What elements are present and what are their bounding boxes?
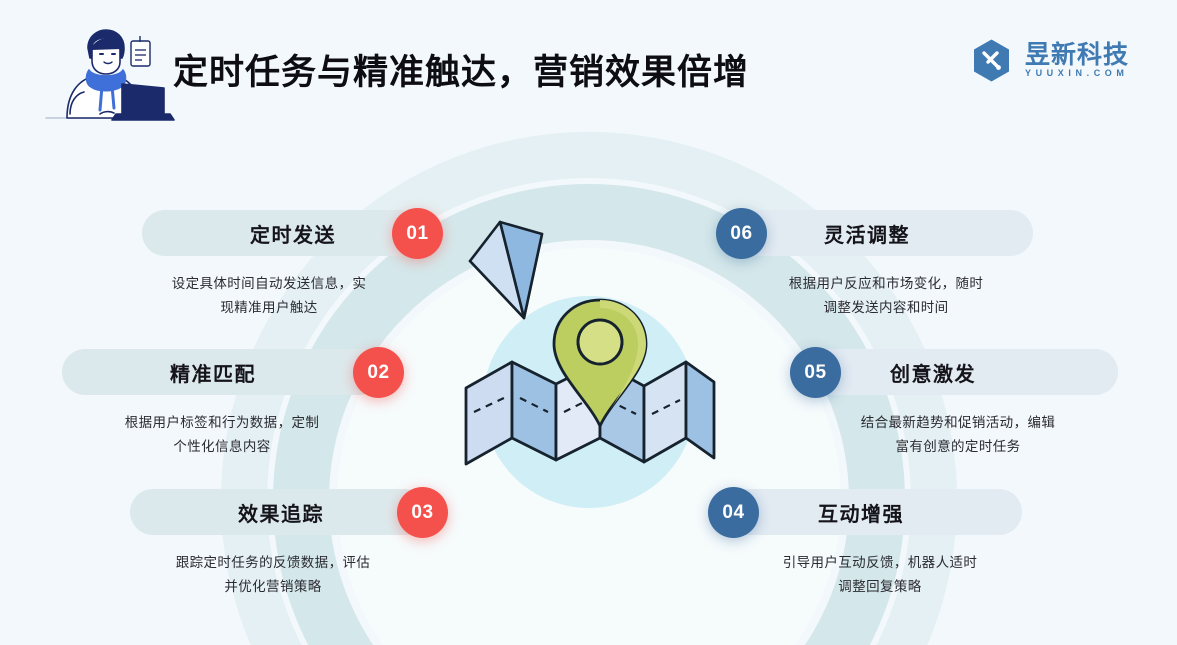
person-with-laptop-illustration — [34, 14, 184, 134]
feature-title: 效果追踪 — [238, 498, 324, 527]
feature-title: 互动增强 — [818, 498, 904, 527]
feature-description: 跟踪定时任务的反馈数据，评估并优化营销策略 — [62, 551, 492, 598]
document-icon — [131, 36, 150, 66]
feature-title: 创意激发 — [890, 358, 976, 387]
feature-pill-row: 定时发送 01 — [62, 205, 492, 261]
brand-name: 昱新科技 — [1025, 43, 1129, 68]
feature-card-06[interactable]: 灵活调整 06 根据用户反应和市场变化，随时调整发送内容和时间 — [688, 205, 1118, 319]
feature-number-badge: 05 — [790, 347, 841, 398]
feature-number-badge: 06 — [716, 208, 767, 259]
feature-title: 定时发送 — [250, 219, 336, 248]
folded-map-with-location-pin-and-paper-plane — [452, 186, 732, 516]
feature-description: 结合最新趋势和促销活动，编辑富有创意的定时任务 — [688, 411, 1118, 458]
feature-pill-row: 效果追踪 03 — [62, 484, 492, 540]
feature-number-badge: 01 — [392, 208, 443, 259]
feature-card-01[interactable]: 定时发送 01 设定具体时间自动发送信息，实现精准用户触达 — [62, 205, 492, 319]
feature-pill: 精准匹配 — [62, 349, 382, 395]
feature-description: 引导用户互动反馈，机器人适时调整回复策略 — [688, 551, 1118, 598]
feature-pill-row: 精准匹配 02 — [62, 344, 492, 400]
hexagon-x-logo-icon — [969, 38, 1014, 83]
feature-pill: 定时发送 — [142, 210, 422, 256]
feature-title: 灵活调整 — [824, 219, 910, 248]
feature-title: 精准匹配 — [170, 358, 256, 387]
feature-pill: 效果追踪 — [130, 489, 428, 535]
page-title: 定时任务与精准触达，营销效果倍增 — [173, 44, 749, 95]
feature-number-badge: 02 — [353, 347, 404, 398]
paper-plane-icon — [470, 222, 542, 318]
feature-pill-row: 创意激发 05 — [688, 344, 1118, 400]
page-header: 定时任务与精准触达，营销效果倍增 昱新科技 YUUXIN.COM — [0, 0, 1177, 150]
feature-card-05[interactable]: 创意激发 05 结合最新趋势和促销活动，编辑富有创意的定时任务 — [688, 344, 1118, 458]
feature-description: 根据用户标签和行为数据，定制个性化信息内容 — [62, 411, 492, 458]
feature-pill-row: 灵活调整 06 — [688, 205, 1118, 261]
feature-description: 设定具体时间自动发送信息，实现精准用户触达 — [62, 272, 492, 319]
feature-card-04[interactable]: 互动增强 04 引导用户互动反馈，机器人适时调整回复策略 — [688, 484, 1118, 598]
brand-domain: YUUXIN.COM — [1025, 69, 1129, 78]
feature-card-02[interactable]: 精准匹配 02 根据用户标签和行为数据，定制个性化信息内容 — [62, 344, 492, 458]
feature-card-03[interactable]: 效果追踪 03 跟踪定时任务的反馈数据，评估并优化营销策略 — [62, 484, 492, 598]
brand-logo: 昱新科技 YUUXIN.COM — [969, 38, 1129, 83]
feature-number-badge: 03 — [397, 487, 448, 538]
feature-description: 根据用户反应和市场变化，随时调整发送内容和时间 — [688, 272, 1118, 319]
feature-number-badge: 04 — [708, 487, 759, 538]
feature-pill-row: 互动增强 04 — [688, 484, 1118, 540]
